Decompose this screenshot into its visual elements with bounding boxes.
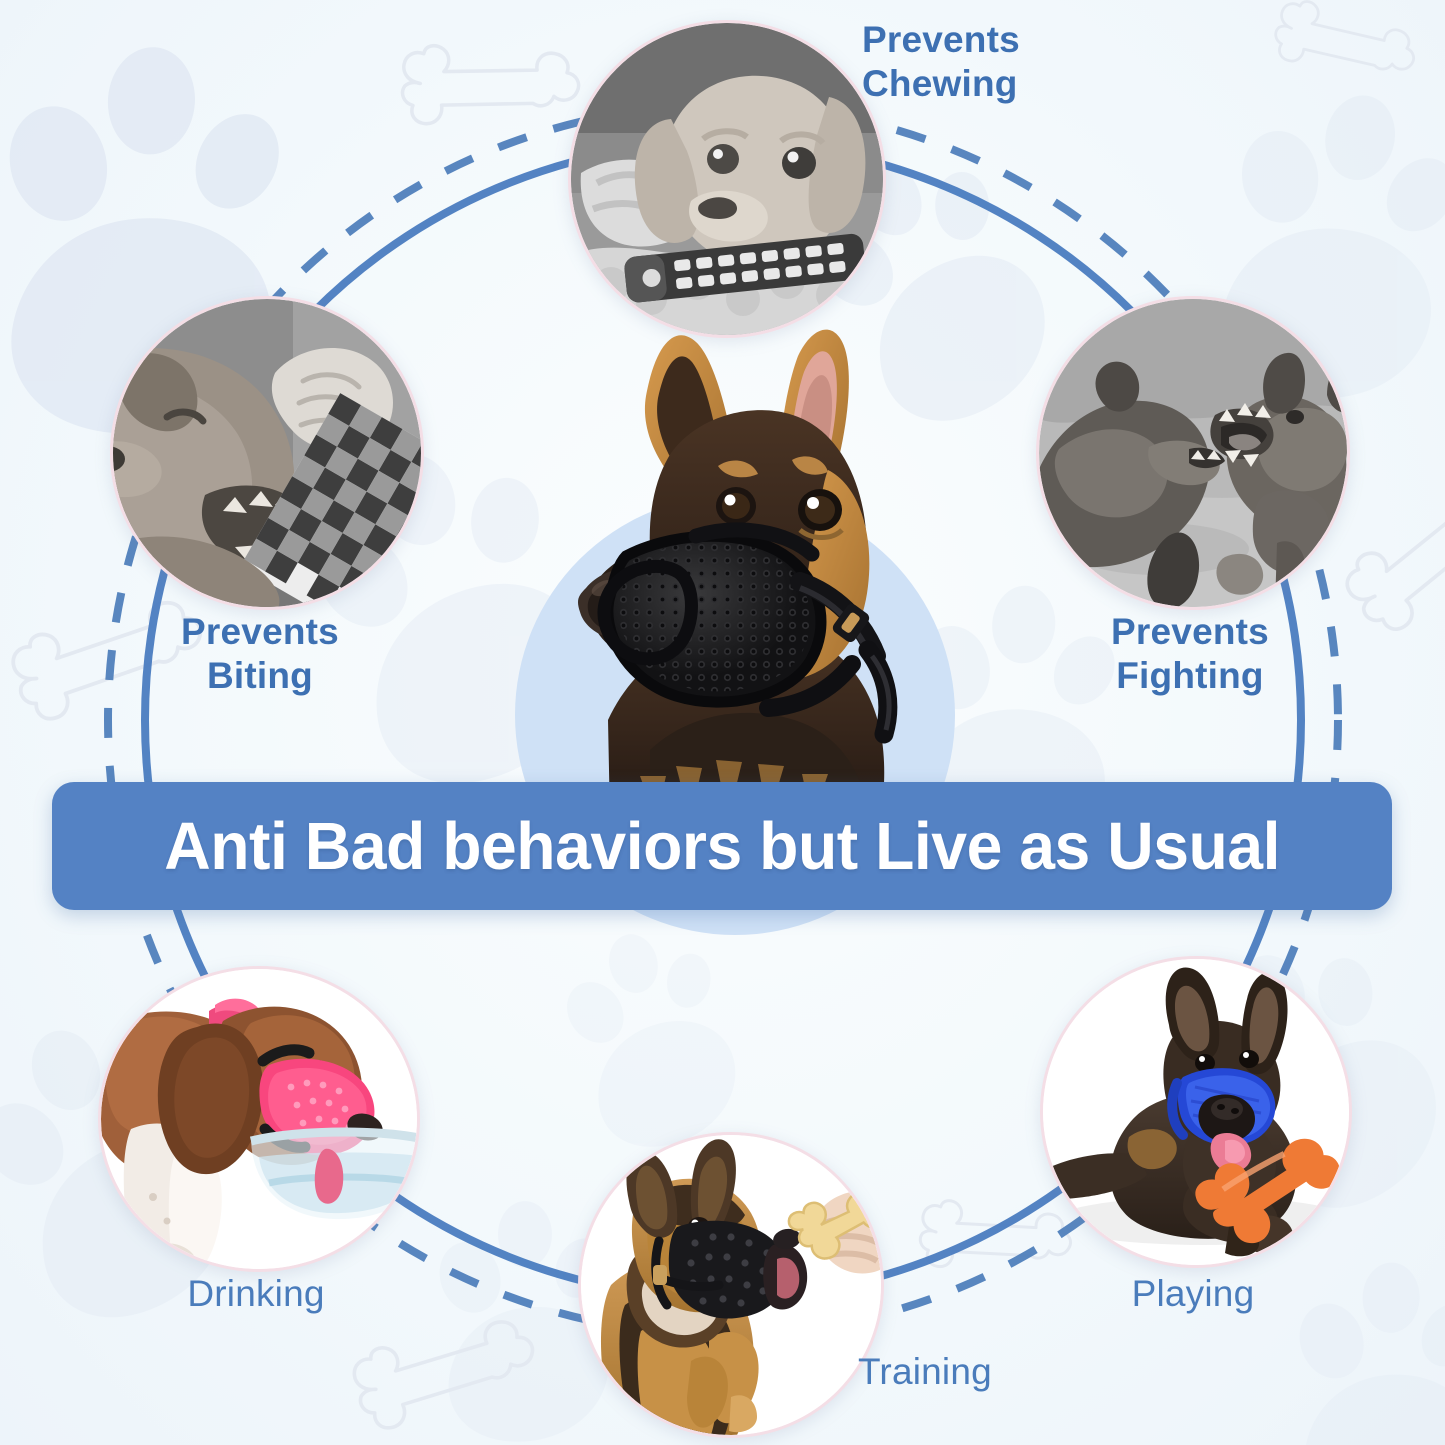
caption-prevents-fighting: Prevents Fighting [1030, 610, 1350, 699]
feature-photo-playing[interactable] [1040, 956, 1352, 1268]
hero-dog-with-muzzle [500, 320, 970, 820]
beagle-drinking-illustration [101, 969, 417, 1269]
malinois-playing-illustration [1043, 959, 1349, 1265]
dog-training-treat-illustration [581, 1135, 881, 1435]
caption-prevents-chewing: Prevents Chewing [862, 18, 1192, 107]
dog-biting-arm-illustration [113, 299, 421, 607]
dogs-fighting-illustration [1039, 299, 1347, 607]
feature-photo-prevents-fighting[interactable] [1036, 296, 1350, 610]
german-shepherd-muzzle-illustration [500, 320, 970, 820]
puppy-chewing-remote-illustration [571, 23, 883, 335]
headline-text: Anti Bad behaviors but Live as Usual [164, 808, 1280, 885]
caption-training: Training [858, 1350, 1118, 1394]
caption-playing: Playing [1040, 1272, 1346, 1316]
caption-prevents-biting: Prevents Biting [110, 610, 410, 699]
caption-drinking: Drinking [96, 1272, 416, 1316]
feature-photo-drinking[interactable] [98, 966, 420, 1272]
infographic-root: Prevents Chewing [0, 0, 1445, 1445]
feature-photo-prevents-biting[interactable] [110, 296, 424, 610]
headline-banner: Anti Bad behaviors but Live as Usual [52, 782, 1392, 910]
feature-photo-prevents-chewing[interactable] [568, 20, 886, 338]
feature-photo-training[interactable] [578, 1132, 884, 1438]
